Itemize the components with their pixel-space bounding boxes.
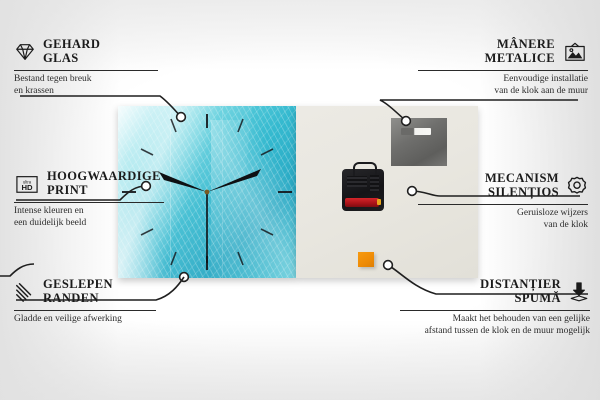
ultra-hd-icon: ultra HD: [14, 173, 40, 195]
callout-title-line1: MECANISM: [485, 172, 559, 186]
callout-title-line2: GLAS: [43, 52, 100, 66]
hanging-loop: [353, 162, 377, 176]
callout-distantier-spuma[interactable]: DISTANȚIER SPUMĂ Maakt het behouden van …: [332, 278, 590, 337]
movement-vent: [347, 176, 367, 187]
bevelled-edges-icon: [14, 281, 36, 303]
infographic-canvas: GEHARD GLAS Bestand tegen breuk en krass…: [0, 0, 600, 400]
callout-desc-line1: Bestand tegen breuk: [14, 74, 190, 86]
callout-header: GESLEPEN RANDEN: [14, 278, 204, 305]
callout-desc-line1: Eenvoudige installatie: [388, 74, 588, 86]
callout-title-line1: HOOGWAARDIGE: [47, 170, 161, 184]
callout-divider: [14, 202, 164, 203]
callout-divider: [14, 70, 158, 71]
callout-title-line1: GEHARD: [43, 38, 100, 52]
callout-desc-line2: een duidelijk beeld: [14, 218, 200, 230]
diamond-icon: [14, 41, 36, 63]
callout-desc-line1: Intense kleuren en: [14, 206, 200, 218]
movement-vent-secondary: [370, 175, 379, 191]
callout-header: GEHARD GLAS: [14, 38, 190, 65]
callout-geslepen-randen[interactable]: GESLEPEN RANDEN Gladde en veilige afwerk…: [14, 278, 204, 326]
battery-terminal: [377, 199, 381, 205]
callout-divider: [400, 310, 590, 311]
metal-hanger-plate: [391, 118, 447, 166]
callout-divider: [418, 70, 588, 71]
callout-title-line2: RANDEN: [43, 292, 113, 306]
clock-movement-box: [342, 169, 384, 211]
callout-desc-line2: afstand tussen de klok en de muur mogeli…: [332, 326, 590, 338]
callout-desc-line2: van de klok aan de muur: [388, 86, 588, 98]
callout-title-line1: MÂNERE: [485, 38, 555, 52]
callout-title-line1: GESLEPEN: [43, 278, 113, 292]
battery: [345, 198, 379, 207]
callout-divider: [418, 204, 588, 205]
callout-divider: [14, 310, 156, 311]
callout-desc-line1: Maakt het behouden van een gelijke: [332, 314, 590, 326]
callout-title-line2: METALICE: [485, 52, 555, 66]
callout-desc-line2: en krassen: [14, 86, 190, 98]
callout-title-line2: PRINT: [47, 184, 161, 198]
callout-desc-line1: Geruisloze wijzers: [388, 208, 588, 220]
callout-hoogwaardige-print[interactable]: ultra HD HOOGWAARDIGE PRINT Intense kleu…: [14, 170, 200, 229]
callout-gehard-glas[interactable]: GEHARD GLAS Bestand tegen breuk en krass…: [14, 38, 190, 97]
callout-header: MÂNERE METALICE: [388, 38, 588, 65]
hanger-slot: [401, 128, 431, 135]
callout-header: MECANISM SILENȚIOS: [388, 172, 588, 199]
foam-spacer-pad: [358, 252, 374, 267]
callout-title-line2: SPUMĂ: [480, 292, 561, 306]
arrow-down-layers-icon: [568, 281, 590, 303]
callout-mecanism-silentios[interactable]: MECANISM SILENȚIOS Geruisloze wijzers va…: [388, 172, 588, 231]
callout-manere-metalice[interactable]: MÂNERE METALICE Eenvoudige installatie v…: [388, 38, 588, 97]
callout-header: ultra HD HOOGWAARDIGE PRINT: [14, 170, 200, 197]
callout-desc-line2: van de klok: [388, 220, 588, 232]
callout-header: DISTANȚIER SPUMĂ: [332, 278, 590, 305]
gear-icon: [566, 175, 588, 197]
callout-desc-line1: Gladde en veilige afwerking: [14, 314, 204, 326]
callout-title-line2: SILENȚIOS: [485, 186, 559, 200]
callout-title-line1: DISTANȚIER: [480, 278, 561, 292]
ultra-hd-icon-bottom-text: HD: [21, 183, 33, 192]
picture-frame-icon: [562, 41, 588, 63]
